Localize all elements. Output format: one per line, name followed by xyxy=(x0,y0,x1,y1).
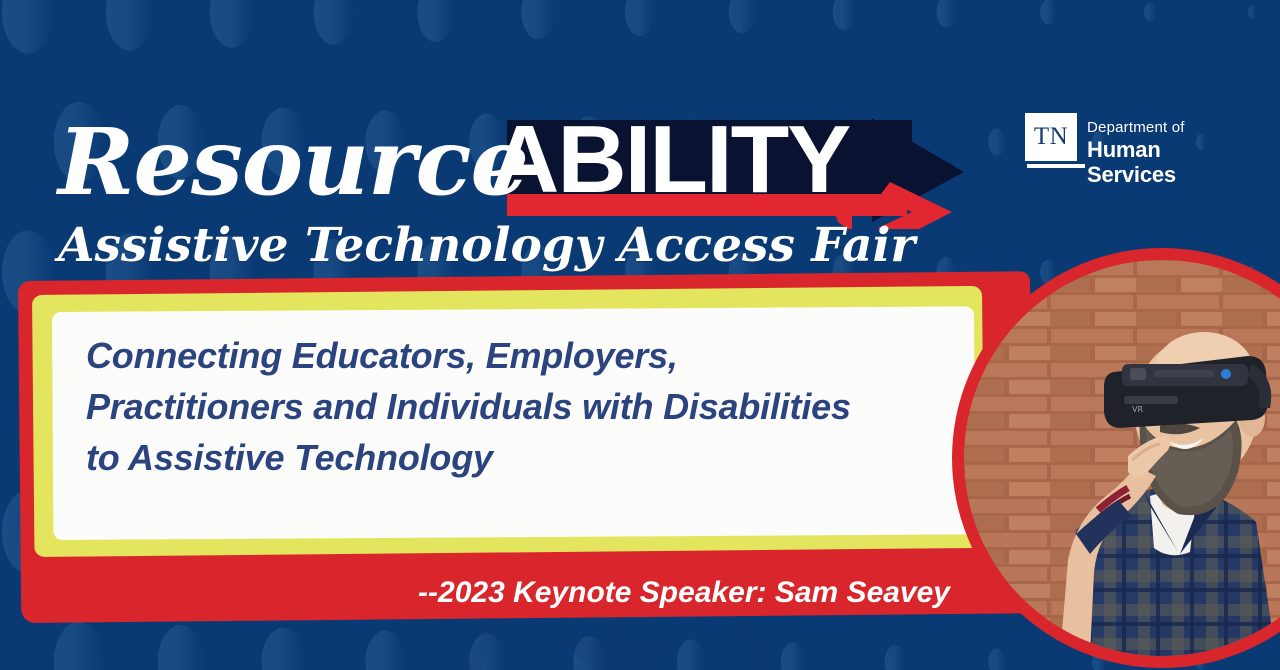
logo-wordmark: Department of Human Services xyxy=(1087,118,1240,187)
card-line-1: Connecting Educators, Employers, xyxy=(86,330,926,381)
title-ability: ABILITY xyxy=(490,108,849,212)
banner-subtitle: Assistive Technology Access Fair xyxy=(58,218,915,274)
tn-dhs-logo: TN Department of Human Services xyxy=(1025,113,1240,175)
keynote-speaker-text: --2023 Keynote Speaker: Sam Seavey xyxy=(0,573,1012,613)
card-line-3: to Assistive Technology xyxy=(86,432,926,483)
resourceability-banner: Resource ABILITY Assistive Technology Ac… xyxy=(0,0,1280,670)
title-resource: Resource xyxy=(58,112,528,212)
logo-underline xyxy=(1027,164,1085,168)
logo-line-2: Human Services xyxy=(1087,137,1240,187)
logo-line-1: Department of xyxy=(1087,118,1240,137)
svg-text:VR: VR xyxy=(1132,405,1143,414)
tn-logo-mark: TN xyxy=(1025,113,1077,161)
wordmark: Resource ABILITY xyxy=(52,104,972,229)
card-copy: Connecting Educators, Employers, Practit… xyxy=(86,330,926,483)
card-line-2: Practitioners and Individuals with Disab… xyxy=(86,381,926,432)
tn-logo-text: TN xyxy=(1034,123,1068,151)
speaker-photo: VR xyxy=(952,248,1280,668)
